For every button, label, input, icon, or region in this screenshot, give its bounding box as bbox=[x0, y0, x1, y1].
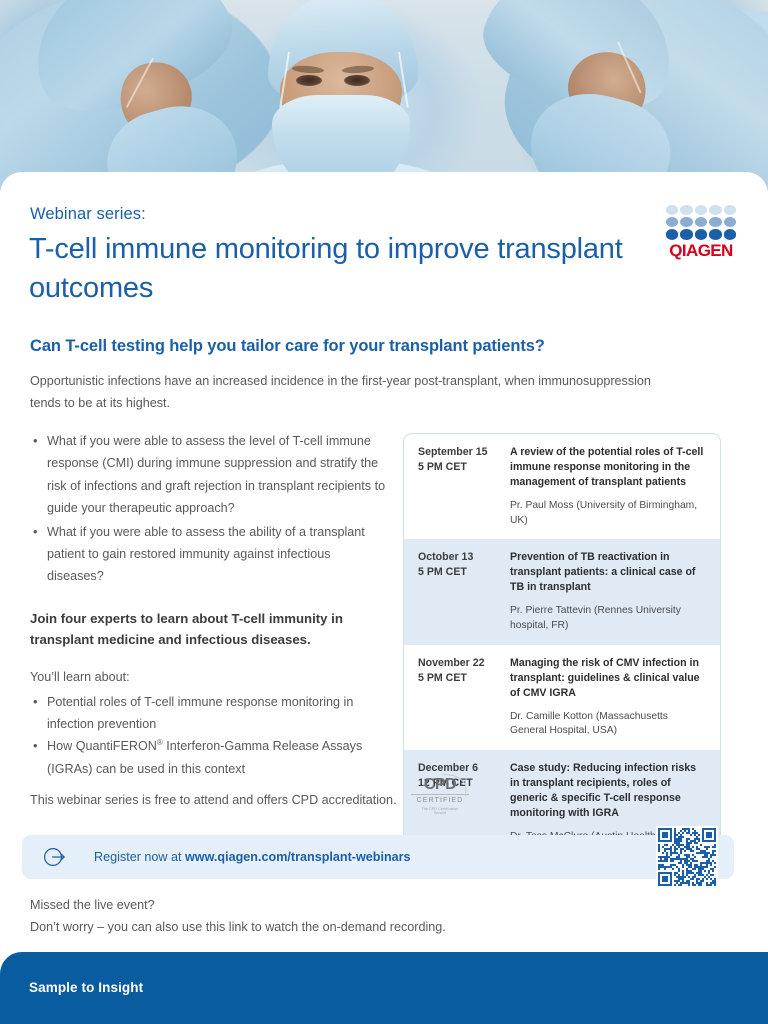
schedule-time: 5 PM CET bbox=[418, 671, 510, 686]
logo-dot-r0-c2 bbox=[695, 205, 707, 215]
logo-dot-grid bbox=[666, 205, 736, 240]
register-prefix: Register now at bbox=[94, 850, 185, 864]
schedule-date-cell: November 225 PM CET bbox=[418, 656, 510, 739]
logo-dot-r2-c0 bbox=[666, 229, 678, 239]
logo-dot-r1-c1 bbox=[680, 217, 692, 227]
logo-dot-r2-c1 bbox=[680, 229, 692, 239]
surgeon-center-eye-right bbox=[344, 75, 370, 86]
qr-code[interactable] bbox=[656, 826, 718, 888]
question-bullet-list: What if you were able to assess the leve… bbox=[30, 430, 390, 588]
logo-dot-r2-c4 bbox=[724, 229, 736, 239]
logo-dot-r1-c4 bbox=[724, 217, 736, 227]
qiagen-logo: QIAGEN bbox=[666, 205, 736, 259]
schedule-date-cell: October 135 PM CET bbox=[418, 550, 510, 633]
content-card: QIAGEN Webinar series: T-cell immune mon… bbox=[0, 172, 768, 952]
schedule-date: December 6 bbox=[418, 761, 510, 776]
footer-tagline: Sample to Insight bbox=[29, 980, 143, 995]
hero-image bbox=[0, 0, 768, 200]
learn-about-label: You’ll learn about: bbox=[30, 666, 390, 688]
eyebrow-label: Webinar series: bbox=[30, 205, 146, 224]
logo-dot-r1-c3 bbox=[709, 217, 721, 227]
schedule-detail-cell: A review of the potential roles of T-cel… bbox=[510, 445, 707, 528]
schedule-detail-cell: Managing the risk of CMV infection in tr… bbox=[510, 656, 707, 739]
missed-event-block: Missed the live event? Don’t worry – you… bbox=[30, 894, 446, 939]
schedule-time: 5 PM CET bbox=[418, 460, 510, 475]
cpd-badge-sub2: Service bbox=[411, 811, 469, 816]
schedule-row: November 225 PM CETManaging the risk of … bbox=[404, 645, 720, 750]
surgeon-center-eye-left bbox=[296, 75, 322, 86]
schedule-speaker: Pr. Paul Moss (University of Birmingham,… bbox=[510, 499, 707, 528]
footer-bar: Sample to Insight bbox=[0, 952, 768, 1024]
schedule-time: 5 PM CET bbox=[418, 565, 510, 580]
question-bullet-2: What if you were able to assess the abil… bbox=[30, 521, 390, 588]
logo-dot-r0-c3 bbox=[709, 205, 721, 215]
join-experts-text: Join four experts to learn about T-cell … bbox=[30, 608, 390, 650]
register-banner[interactable]: Register now at www.qiagen.com/transplan… bbox=[22, 835, 734, 879]
learn-bullet-list: Potential roles of T-cell immune respons… bbox=[30, 691, 390, 781]
intro-paragraph: Opportunistic infections have an increas… bbox=[30, 370, 680, 415]
question-bullet-1: What if you were able to assess the leve… bbox=[30, 430, 390, 520]
left-column: What if you were able to assess the leve… bbox=[30, 430, 390, 780]
cpd-badge-certified: CERTIFIED bbox=[411, 794, 469, 807]
register-text: Register now at www.qiagen.com/transplan… bbox=[94, 850, 411, 864]
learn-bullet-2: How QuantiFERON® Interferon-Gamma Releas… bbox=[30, 735, 390, 780]
schedule-title: Case study: Reducing infection risks in … bbox=[510, 761, 707, 821]
logo-dot-r2-c2 bbox=[695, 229, 707, 239]
logo-dot-r1-c0 bbox=[666, 217, 678, 227]
logo-dot-r1-c2 bbox=[695, 217, 707, 227]
learn-bullet-1: Potential roles of T-cell immune respons… bbox=[30, 691, 390, 736]
schedule-row: September 155 PM CETA review of the pote… bbox=[404, 434, 720, 539]
missed-line-2: Don’t worry – you can also use this link… bbox=[30, 916, 446, 938]
schedule-title: A review of the potential roles of T-cel… bbox=[510, 445, 707, 490]
registered-trademark-mark: ® bbox=[157, 738, 163, 747]
logo-dot-r0-c0 bbox=[666, 205, 678, 215]
missed-line-1: Missed the live event? bbox=[30, 894, 446, 916]
schedule-date: September 15 bbox=[418, 445, 510, 460]
logo-dot-r0-c1 bbox=[680, 205, 692, 215]
schedule-speaker: Pr. Pierre Tattevin (Rennes University h… bbox=[510, 604, 707, 633]
logo-wordmark: QIAGEN bbox=[666, 242, 736, 259]
cpd-accreditation-text: This webinar series is free to attend an… bbox=[30, 790, 397, 810]
schedule-speaker: Dr. Camille Kotton (Massachusetts Genera… bbox=[510, 710, 707, 739]
schedule-date: October 13 bbox=[418, 550, 510, 565]
page-subtitle: Can T-cell testing help you tailor care … bbox=[30, 337, 545, 356]
logo-dot-r0-c4 bbox=[724, 205, 736, 215]
logo-dot-r2-c3 bbox=[709, 229, 721, 239]
register-url[interactable]: www.qiagen.com/transplant-webinars bbox=[185, 850, 411, 864]
cpd-certified-badge-icon: CPD CERTIFIED The CPD Certification Serv… bbox=[411, 777, 469, 825]
page-title: T-cell immune monitoring to improve tran… bbox=[29, 230, 629, 307]
schedule-date-cell: September 155 PM CET bbox=[418, 445, 510, 528]
schedule-detail-cell: Prevention of TB reactivation in transpl… bbox=[510, 550, 707, 633]
schedule-date: November 22 bbox=[418, 656, 510, 671]
schedule-title: Managing the risk of CMV infection in tr… bbox=[510, 656, 707, 701]
schedule-row: October 135 PM CETPrevention of TB react… bbox=[404, 539, 720, 644]
schedule-title: Prevention of TB reactivation in transpl… bbox=[510, 550, 707, 595]
arrow-circle-right-icon bbox=[42, 844, 68, 870]
